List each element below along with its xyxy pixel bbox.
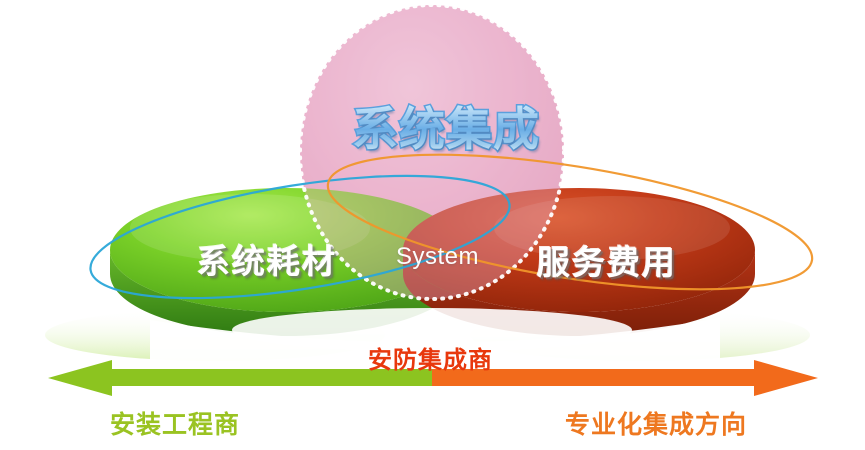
left-disc-label: 系统耗材 bbox=[197, 235, 337, 283]
arrow-caption: 安防集成商 bbox=[368, 340, 493, 375]
arrow-head-left bbox=[48, 360, 112, 396]
center-overlap-label: System bbox=[396, 243, 479, 271]
diagram-title: 系统集成 bbox=[352, 93, 540, 159]
venn-graphics bbox=[0, 0, 865, 450]
caption-left: 安装工程商 bbox=[110, 405, 240, 441]
diagram-canvas: 系统集成 系统集成 系统耗材 服务费用 System 安防集成商 安装工程商 专… bbox=[0, 0, 865, 450]
right-disc-label: 服务费用 bbox=[537, 236, 677, 284]
caption-right: 专业化集成方向 bbox=[565, 405, 747, 441]
arrow-head-right bbox=[754, 360, 818, 396]
